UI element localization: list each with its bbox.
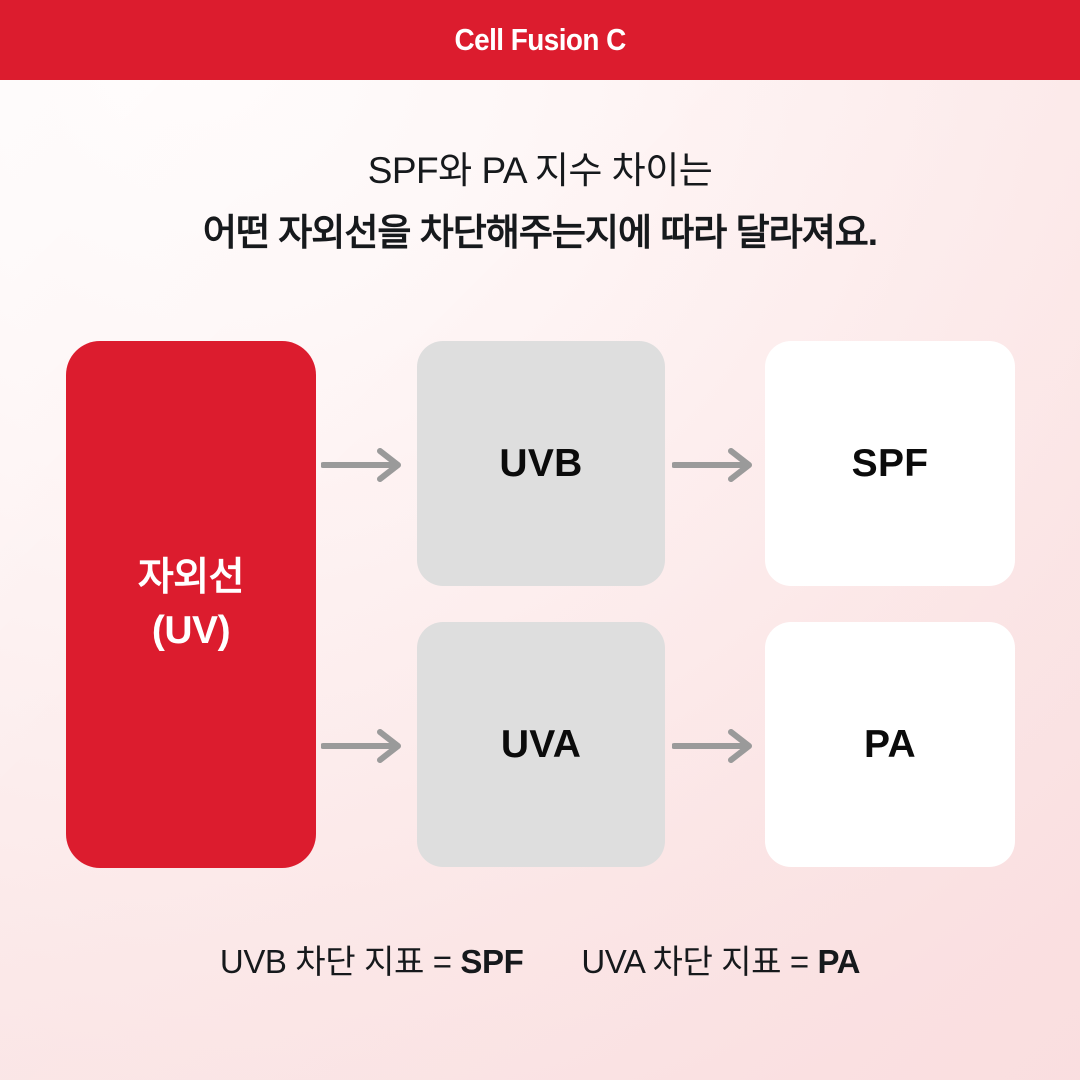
uv-source-label-line-1: 자외선 [138, 552, 244, 605]
uvb-label: UVB [499, 442, 582, 486]
arrow-right-icon [672, 448, 758, 482]
pa-label: PA [864, 723, 916, 767]
infographic-page: Cell Fusion C SPF와 PA 지수 차이는 어떤 자외선을 차단해… [0, 0, 1080, 1080]
footnote-uvb-term: SPF [460, 943, 523, 980]
footnote-row: UVB 차단 지표 = SPF UVA 차단 지표 = PA [0, 935, 1080, 983]
uva-label: UVA [501, 723, 581, 767]
footnote-uvb: UVB 차단 지표 = SPF [220, 935, 523, 983]
uvb-box: UVB [417, 341, 665, 586]
uva-box: UVA [417, 622, 665, 867]
arrow-right-icon [672, 729, 758, 763]
spf-label: SPF [852, 442, 929, 486]
uv-source-label: 자외선 (UV) [138, 552, 244, 657]
uv-source-label-line-2: (UV) [138, 605, 244, 658]
footnote-uva-lead: UVA 차단 지표 = [581, 943, 817, 980]
uv-source-box: 자외선 (UV) [66, 341, 316, 868]
arrow-right-icon [321, 729, 407, 763]
arrow-right-icon [321, 448, 407, 482]
footnote-uvb-lead: UVB 차단 지표 = [220, 943, 460, 980]
uv-flow-diagram: 자외선 (UV) UVB SPF [0, 0, 1080, 1080]
spf-box: SPF [765, 341, 1015, 586]
pa-box: PA [765, 622, 1015, 867]
footnote-uva: UVA 차단 지표 = PA [581, 935, 860, 983]
footnote-uva-term: PA [818, 943, 861, 980]
